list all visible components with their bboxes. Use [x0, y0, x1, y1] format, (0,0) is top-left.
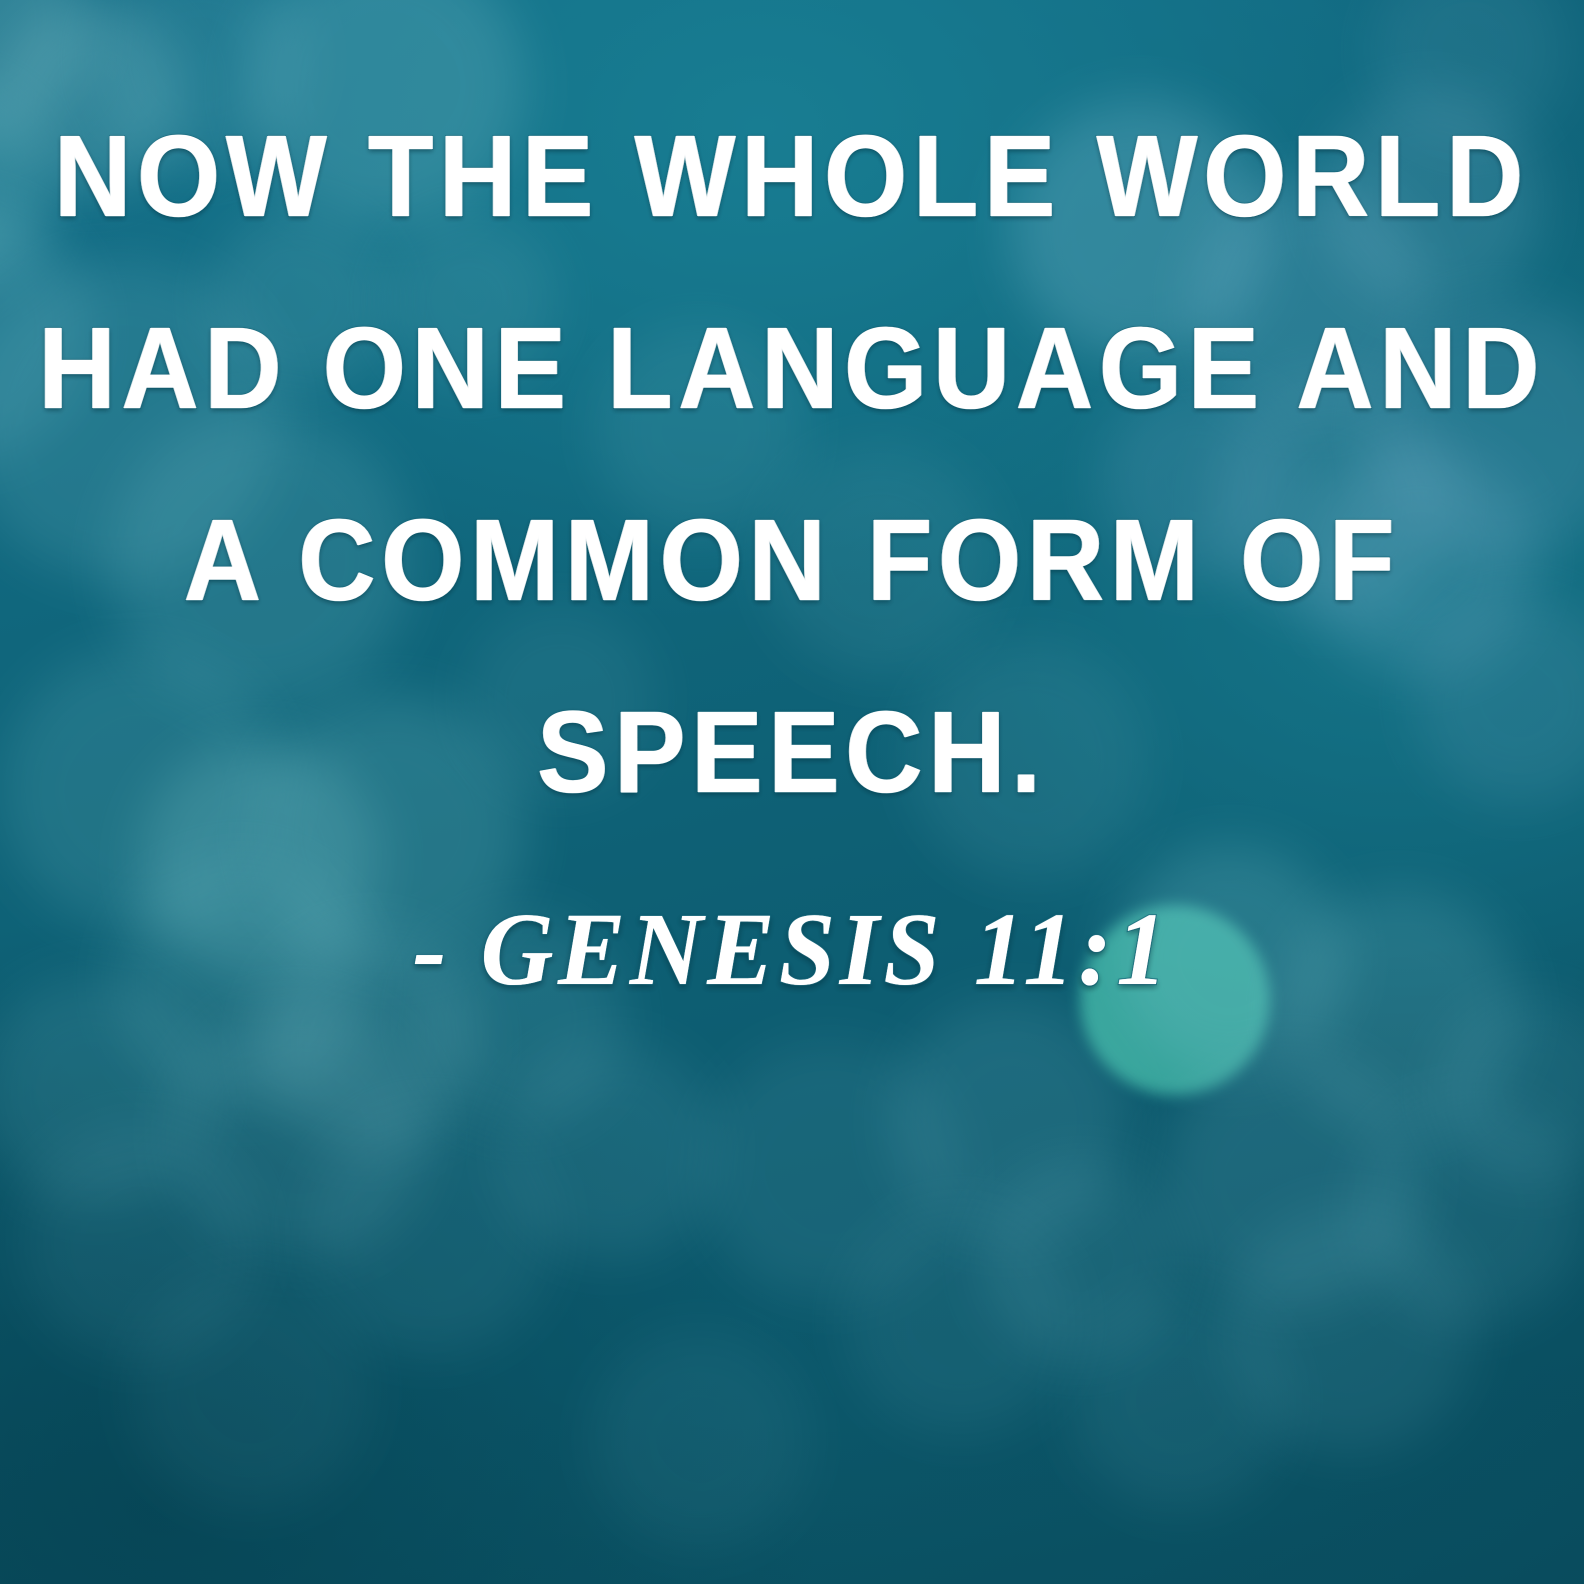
bokeh-circle: [845, 1205, 1075, 1435]
verse-text-block: NOW THE WHOLE WORLD HAD ONE LANGUAGE AND…: [0, 118, 1584, 1002]
verse-image-canvas: NOW THE WHOLE WORLD HAD ONE LANGUAGE AND…: [0, 0, 1584, 1584]
bokeh-circle: [590, 1330, 810, 1550]
verse-line-3: A COMMON FORM OF: [184, 502, 1400, 618]
bokeh-circle: [130, 1270, 370, 1510]
verse-line-1: NOW THE WHOLE WORLD: [55, 118, 1530, 234]
bokeh-circle: [500, 1040, 720, 1260]
verse-line-4: SPEECH.: [537, 694, 1047, 810]
verse-attribution: - GENESIS 11:1: [413, 898, 1172, 1002]
verse-line-2: HAD ONE LANGUAGE AND: [39, 310, 1546, 426]
